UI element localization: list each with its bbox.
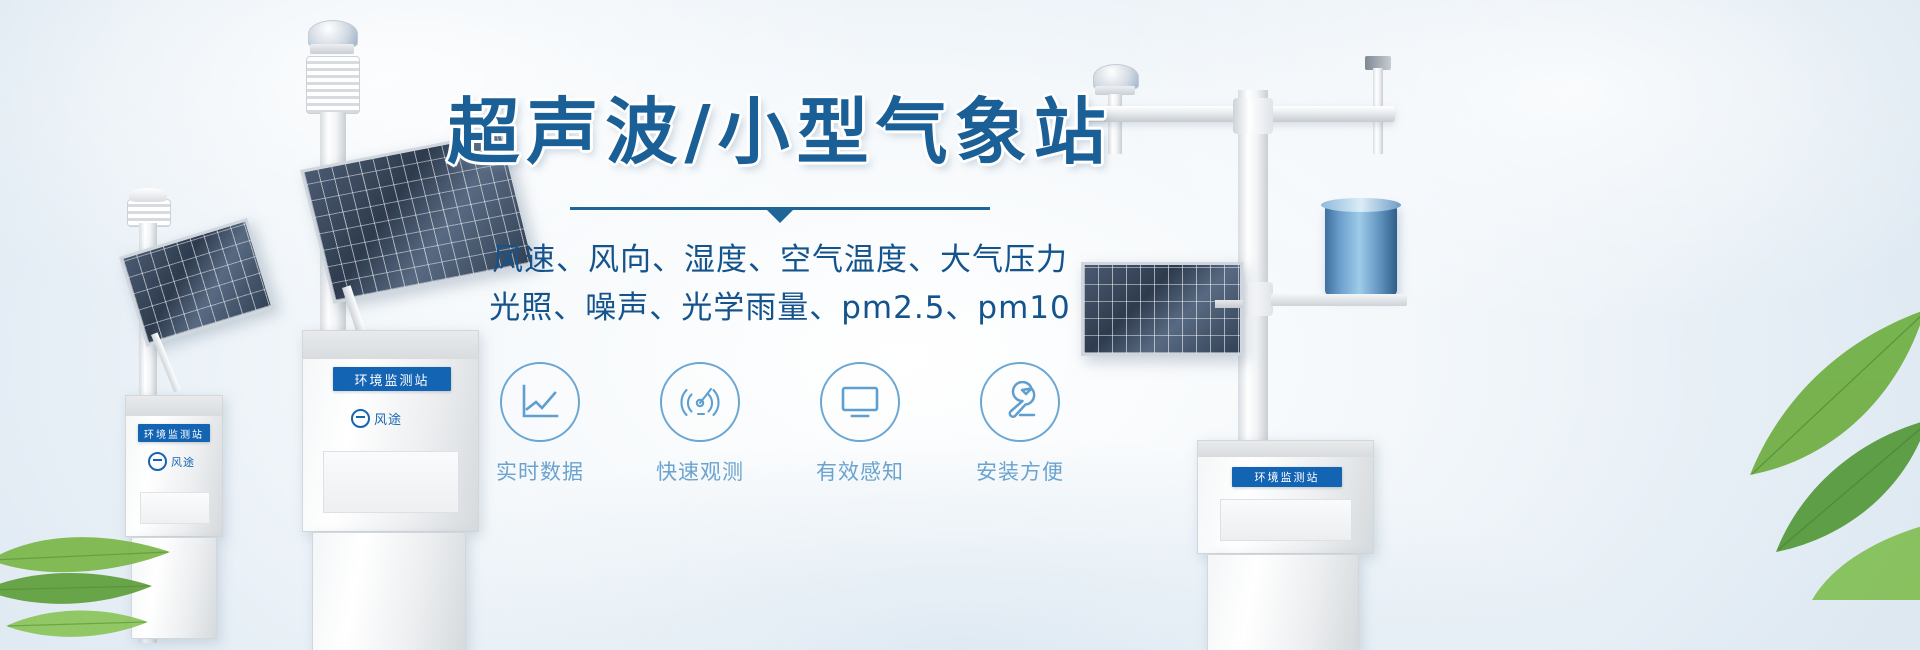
subtitle-line-1: 风速、风向、湿度、空气温度、大气压力 bbox=[430, 236, 1130, 284]
feature-label: 实时数据 bbox=[480, 456, 600, 486]
feature-icon-circle bbox=[820, 362, 900, 442]
cabinet-top-strip bbox=[126, 396, 222, 416]
brand-logo: 风途 bbox=[148, 452, 195, 471]
cabinet-top-strip bbox=[1198, 441, 1373, 457]
title-divider bbox=[570, 204, 990, 216]
brand-mark-icon bbox=[351, 409, 370, 428]
brand-name: 风途 bbox=[374, 409, 402, 428]
lower-equipment-box bbox=[1207, 554, 1359, 650]
weather-station-small-left: 环境监测站 风途 bbox=[105, 185, 245, 650]
wrench-icon bbox=[998, 381, 1042, 423]
anemometer-arms bbox=[310, 44, 354, 54]
radiation-shield-icon bbox=[306, 56, 360, 114]
product-banner: 环境监测站 风途 环境监测站 风途 bbox=[0, 0, 1920, 650]
feature-item-realtime-data[interactable]: 实时数据 bbox=[480, 362, 600, 486]
leaf-decoration-right bbox=[1640, 300, 1920, 600]
feature-item-effective-sensing[interactable]: 有效感知 bbox=[800, 362, 920, 486]
feature-icon-circle bbox=[660, 362, 740, 442]
rain-gauge-icon bbox=[1325, 204, 1397, 296]
page-title: 超声波/小型气象站 bbox=[430, 96, 1130, 168]
brand-name: 风途 bbox=[171, 454, 195, 470]
chevron-down-icon bbox=[767, 210, 793, 223]
control-cabinet: 环境监测站 风途 bbox=[125, 395, 223, 537]
banner-text-block: 超声波/小型气象站 风速、风向、湿度、空气温度、大气压力 光照、噪声、光学雨量、… bbox=[430, 96, 1130, 566]
feature-item-easy-installation[interactable]: 安装方便 bbox=[960, 362, 1080, 486]
station-badge: 环境监测站 bbox=[138, 424, 210, 442]
brand-mark-icon bbox=[148, 452, 167, 471]
sensor-cap-icon bbox=[129, 188, 167, 202]
rain-gauge-rim bbox=[1321, 198, 1401, 212]
mast-collar bbox=[1233, 98, 1273, 134]
lower-equipment-box bbox=[131, 537, 217, 639]
feature-item-fast-observation[interactable]: 快速观测 bbox=[640, 362, 760, 486]
feature-label: 有效感知 bbox=[800, 456, 920, 486]
station-badge: 环境监测站 bbox=[1232, 467, 1342, 487]
cabinet-door-seam bbox=[1220, 499, 1352, 541]
feature-icon-circle bbox=[980, 362, 1060, 442]
cabinet-door-seam bbox=[140, 492, 210, 524]
control-cabinet: 环境监测站 bbox=[1197, 440, 1374, 554]
monitor-screen-icon bbox=[838, 383, 882, 421]
subtitle-line-2: 光照、噪声、光学雨量、pm2.5、pm10 bbox=[430, 284, 1130, 332]
banner-subtitle: 风速、风向、湿度、空气温度、大气压力 光照、噪声、光学雨量、pm2.5、pm10 bbox=[430, 236, 1130, 332]
feature-label: 快速观测 bbox=[640, 456, 760, 486]
feature-icon-circle bbox=[500, 362, 580, 442]
feature-list: 实时数据 快 bbox=[430, 362, 1130, 486]
rain-gauge-shelf bbox=[1271, 294, 1407, 306]
radar-signal-icon bbox=[678, 381, 722, 423]
panel-support-arm bbox=[1215, 300, 1243, 308]
line-chart-icon bbox=[519, 382, 561, 422]
brand-logo: 风途 bbox=[351, 409, 402, 428]
feature-label: 安装方便 bbox=[960, 456, 1080, 486]
